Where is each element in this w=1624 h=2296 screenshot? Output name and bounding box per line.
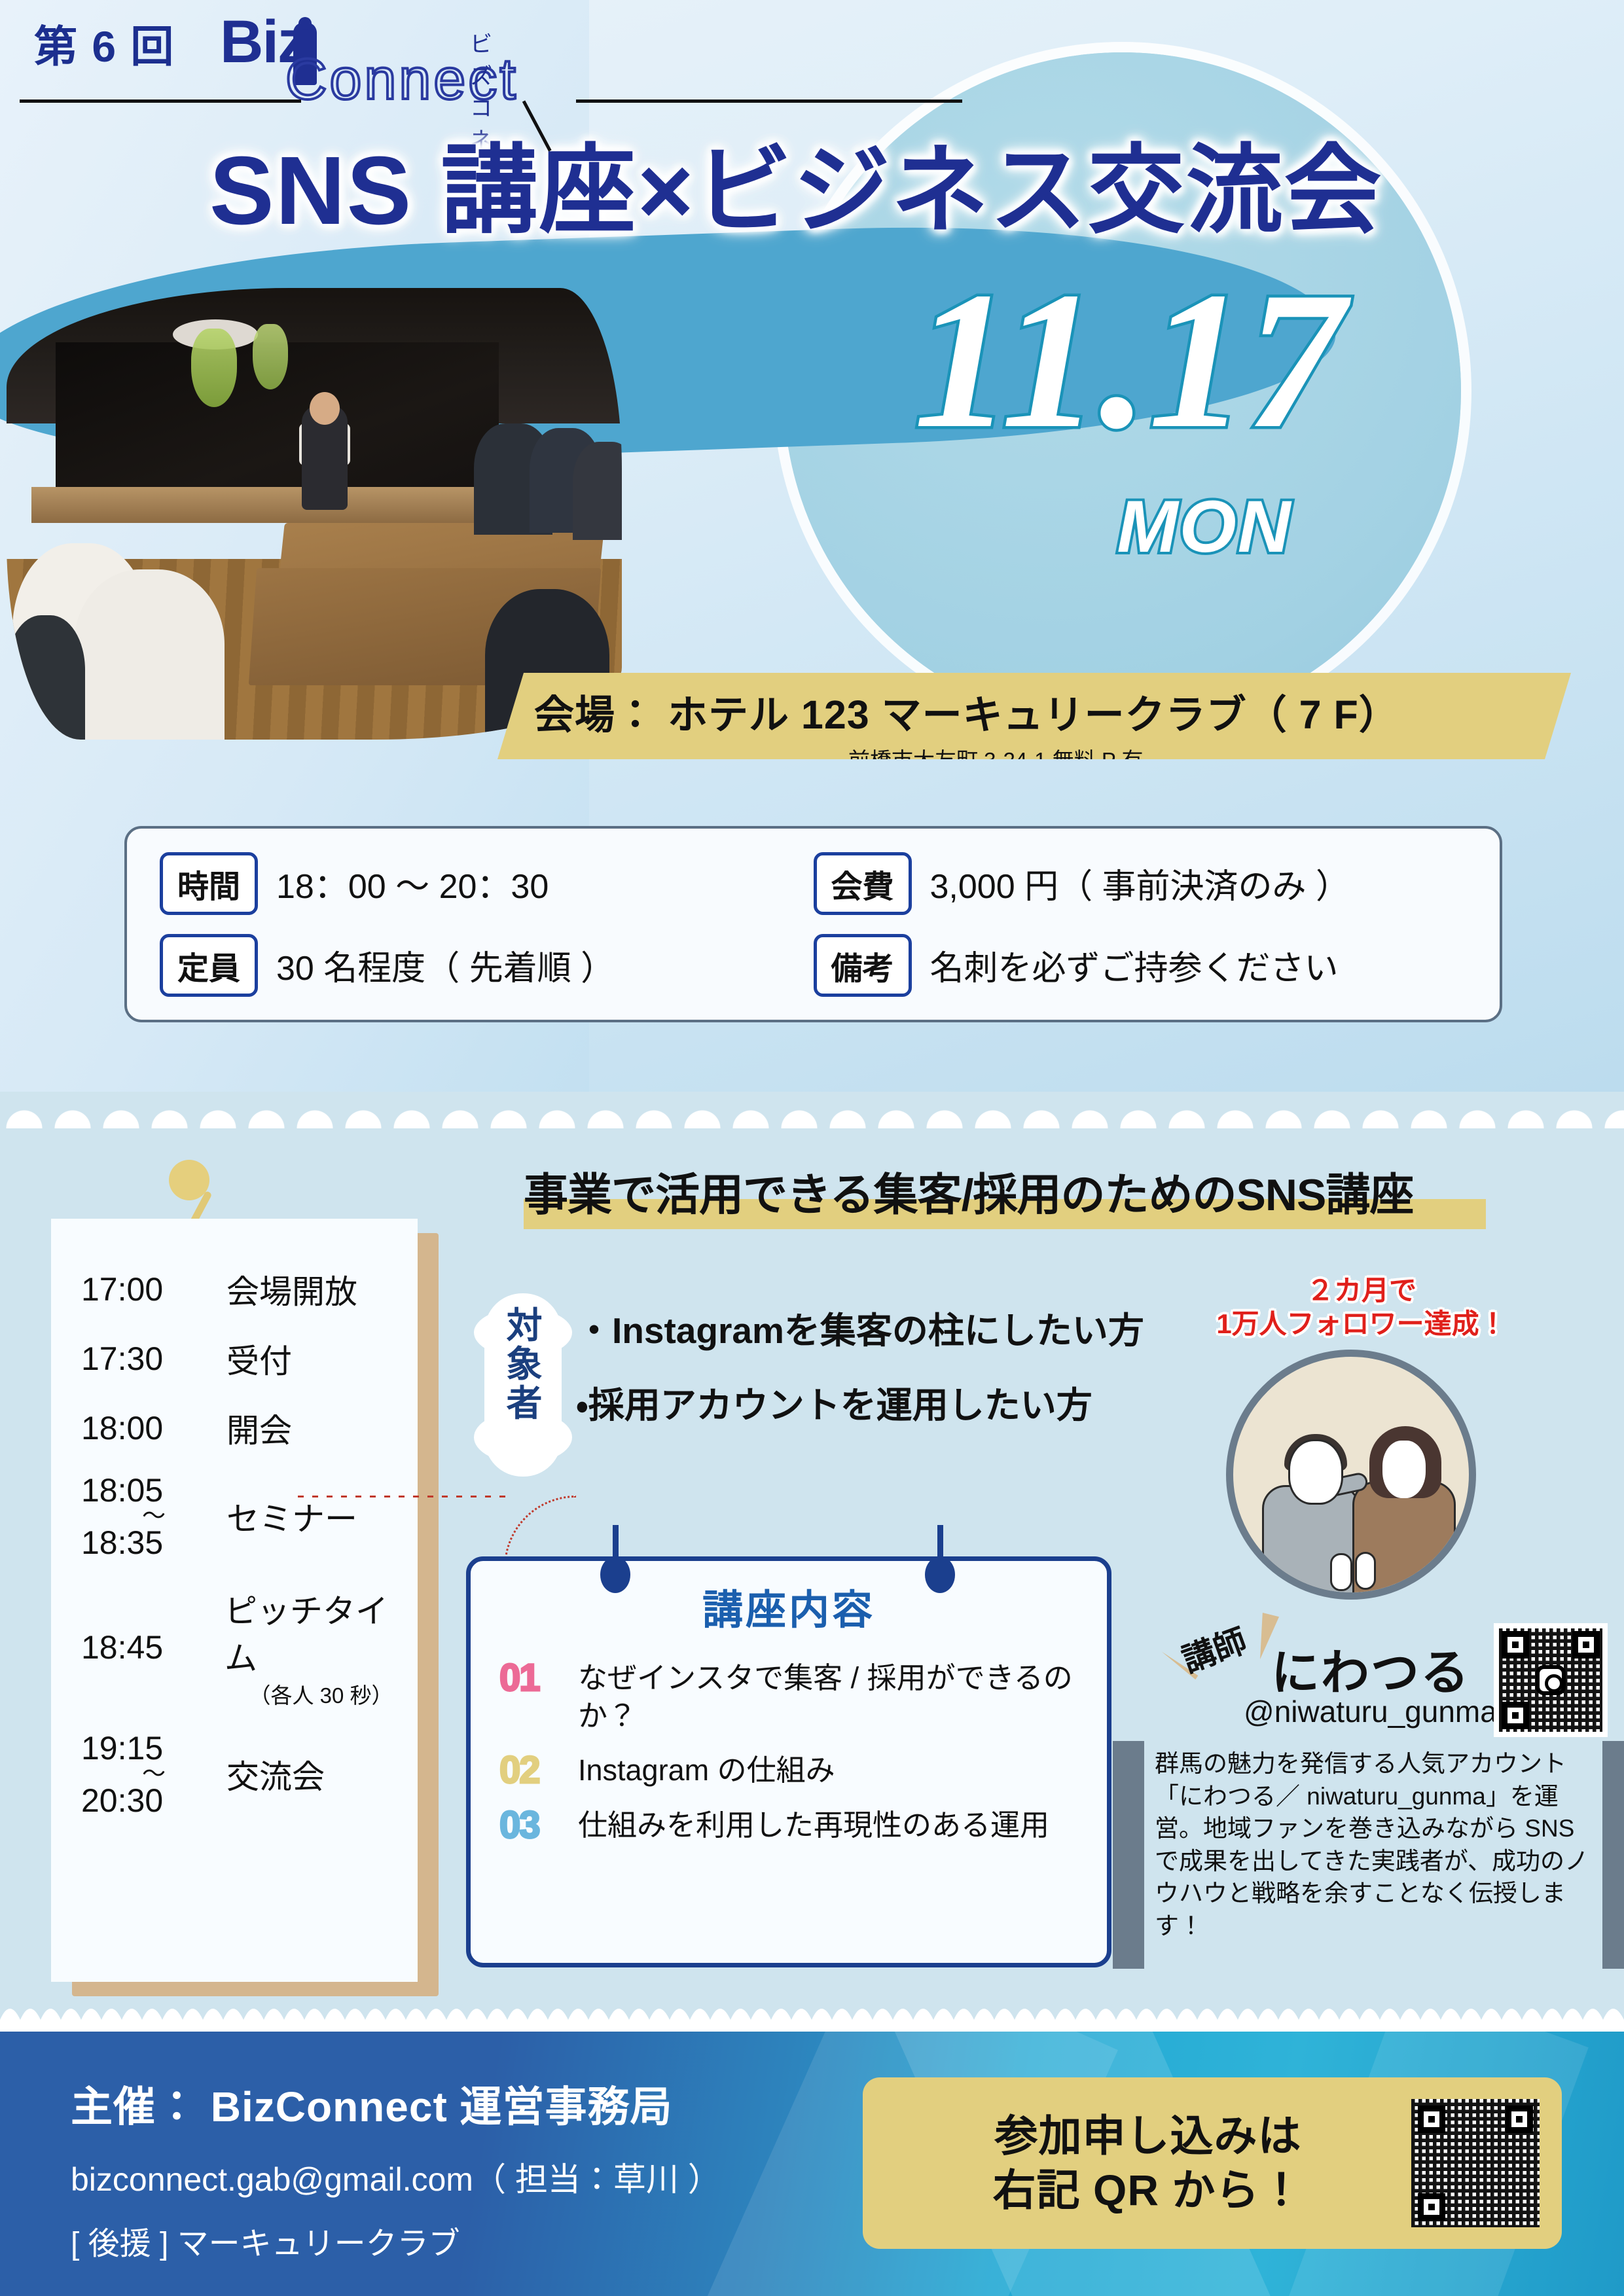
- badge-line-1: ２カ月で: [1165, 1274, 1558, 1307]
- event-photo: [7, 288, 622, 740]
- schedule-row: 18:45 ピッチタイム （各人 30 秒）: [81, 1585, 418, 1710]
- apply-line-1: 参加申し込みは: [885, 2109, 1411, 2163]
- instructor-illustration: [1226, 1350, 1476, 1600]
- schedule-label: 開会: [226, 1405, 292, 1452]
- bizconnect-logo: Biz Connect ビズコネクト: [220, 12, 306, 72]
- info-item-capacity: 定員 30 名程度（ 先着順 ）: [160, 924, 814, 1006]
- schedule-time: 18:45: [81, 1628, 225, 1666]
- schedule-row: 17:00 会場開放: [81, 1266, 418, 1313]
- instructor-handle: @niwaturu_gunma: [1244, 1694, 1497, 1729]
- apply-line-2: 右記 QR から！: [885, 2163, 1411, 2217]
- course-knob-right: [925, 1556, 955, 1593]
- schedule-time-range: 18:05 〜 18:35: [81, 1474, 226, 1559]
- schedule-time: 17:30: [81, 1340, 226, 1378]
- course-item-text: Instagram の仕組み: [578, 1751, 835, 1789]
- qr-finder-tr: [1506, 2106, 1533, 2133]
- schedule-label: 会場開放: [226, 1266, 357, 1313]
- course-item-text: なぜインスタで集客 / 採用ができるのか？: [578, 1659, 1095, 1734]
- qr-finder-tl: [1418, 2106, 1445, 2133]
- info-tag-label: 定員: [160, 934, 258, 997]
- schedule-label-text: ピッチタイム: [225, 1593, 388, 1677]
- course-item: 01 なぜインスタで集客 / 採用ができるのか？: [499, 1659, 1095, 1734]
- course-item-list: 01 なぜインスタで集客 / 採用ができるのか？ 02 Instagram の仕…: [499, 1659, 1095, 1861]
- course-item-number: 03: [499, 1806, 578, 1844]
- badge-line-2: 1万人フォロワー達成！: [1165, 1307, 1558, 1340]
- event-info-box: 時間 18：00 〜 20：30 会費 3,000 円（ 事前決済のみ ） 定員…: [124, 826, 1502, 1022]
- target-item: ・Instagramを集客の柱にしたい方: [576, 1301, 1144, 1354]
- event-date: 11.17: [851, 262, 1407, 458]
- info-tag-label: 会費: [814, 852, 912, 915]
- schedule-row: 19:15 〜 20:30 交流会: [81, 1732, 418, 1817]
- course-item-number: 02: [499, 1751, 578, 1789]
- venue-banner: 会場： ホテル 123 マーキュリークラブ（ 7 F） 前橋市大友町 3-24-…: [497, 673, 1571, 759]
- hero-section: 第 6 回 Biz Connect ビズコネクト SNS 講座×ビジネス交流会 …: [0, 0, 1624, 1092]
- schedule-label: ピッチタイム （各人 30 秒）: [225, 1585, 418, 1710]
- course-item-text: 仕組みを利用した再現性のある運用: [578, 1806, 1049, 1844]
- schedule-label: 交流会: [226, 1751, 325, 1798]
- application-qr-code[interactable]: [1411, 2099, 1540, 2227]
- person-right-head: [1382, 1441, 1426, 1498]
- course-item-number: 01: [499, 1659, 578, 1697]
- schedule-time-range: 19:15 〜 20:30: [81, 1732, 226, 1817]
- edition-label: 第 6 回: [34, 12, 175, 75]
- info-item-fee: 会費 3,000 円（ 事前決済のみ ）: [814, 842, 1468, 924]
- schedule-time: 17:00: [81, 1270, 226, 1308]
- businessman-head-icon: [298, 17, 312, 30]
- qr-finder-bl: [1502, 1702, 1529, 1729]
- heading-rule-left: [20, 99, 301, 103]
- qr-finder-tl: [1502, 1631, 1529, 1659]
- target-audience-label: 対象者: [499, 1306, 550, 1423]
- course-content-title: 講座内容: [471, 1577, 1107, 1636]
- footer-zigzag-divider: [0, 2001, 1624, 2032]
- schedule-card: 17:00 会場開放 17:30 受付 18:00 開会 18:05 〜 18:…: [51, 1219, 418, 1982]
- target-audience-list: ・Instagramを集客の柱にしたい方 ・採用アカウントを運用したい方: [576, 1301, 1144, 1450]
- footer-organizer: 主催： BizConnect 運営事務局: [71, 2073, 721, 2134]
- info-tag-label: 時間: [160, 852, 258, 915]
- qr-finder-tr: [1572, 1631, 1600, 1659]
- schedule-time: 18:00: [81, 1409, 226, 1447]
- course-item: 03 仕組みを利用した再現性のある運用: [499, 1806, 1095, 1844]
- footer-contact-block: 主催： BizConnect 運営事務局 bizconnect.gab@gmai…: [71, 2073, 721, 2263]
- heading-rule-right: [576, 99, 962, 103]
- info-value: 名刺を必ずご持参ください: [930, 941, 1339, 990]
- course-knob-left: [600, 1556, 630, 1593]
- info-item-time: 時間 18：00 〜 20：30: [160, 842, 814, 924]
- schedule-time-end: 20:30: [81, 1782, 163, 1819]
- instagram-icon: [1536, 1665, 1566, 1695]
- seminar-heading-block: 事業で活用できる集客/採用のためのSNS講座: [524, 1158, 1545, 1223]
- person-left-hand: [1330, 1553, 1352, 1591]
- pushpin-icon: [169, 1160, 209, 1200]
- course-item: 02 Instagram の仕組み: [499, 1751, 1095, 1789]
- info-value: 3,000 円（ 事前決済のみ ）: [930, 859, 1350, 908]
- venue-address: 前橋市大友町 3-24-1 無料 P 有: [848, 743, 1571, 774]
- schedule-row: 17:30 受付: [81, 1335, 418, 1382]
- schedule-label: 受付: [226, 1335, 292, 1382]
- info-value: 18：00 〜 20：30: [276, 859, 549, 908]
- info-tag-label: 備考: [814, 934, 912, 997]
- schedule-row: 18:05 〜 18:35 セミナー: [81, 1474, 418, 1559]
- event-day-of-week: MON: [1021, 484, 1388, 569]
- footer-email[interactable]: bizconnect.gab@gmail.com（ 担当：草川 ）: [71, 2153, 721, 2200]
- seminar-heading: 事業で活用できる集客/採用のためのSNS講座: [524, 1158, 1545, 1223]
- instructor-name: にわつる: [1271, 1634, 1470, 1704]
- course-content-box: 講座内容 01 なぜインスタで集客 / 採用ができるのか？ 02 Instagr…: [466, 1556, 1111, 1967]
- schedule-label-sub: （各人 30 秒）: [225, 1678, 418, 1710]
- person-right-hand: [1355, 1552, 1376, 1590]
- instructor-bio: 群馬の魅力を発信する人気アカウント「にわつる／ niwaturu_gunma」を…: [1144, 1741, 1602, 1969]
- qr-finder-bl: [1418, 2193, 1445, 2221]
- footer-support: [ 後援 ] マーキュリークラブ: [71, 2217, 721, 2263]
- target-item: ・採用アカウントを運用したい方: [576, 1376, 1144, 1428]
- apply-cta-text: 参加申し込みは 右記 QR から！: [885, 2109, 1411, 2217]
- venue-name: 会場： ホテル 123 マーキュリークラブ（ 7 F）: [534, 682, 1571, 740]
- info-item-notes: 備考 名刺を必ずご持参ください: [814, 924, 1468, 1006]
- follower-achievement-badge: ２カ月で 1万人フォロワー達成！: [1165, 1274, 1558, 1340]
- wave-divider: [0, 1092, 1624, 1128]
- schedule-time-end: 18:35: [81, 1524, 163, 1561]
- person-left-head: [1288, 1439, 1343, 1505]
- schedule-row: 18:00 開会: [81, 1405, 418, 1452]
- connector-dotted-line: [298, 1496, 514, 1498]
- instructor-bio-text: 群馬の魅力を発信する人気アカウント「にわつる／ niwaturu_gunma」を…: [1155, 1748, 1592, 1942]
- info-value: 30 名程度（ 先着順 ）: [276, 941, 615, 990]
- schedule-label: セミナー: [226, 1493, 357, 1540]
- page-title: SNS 講座×ビジネス交流会: [209, 111, 1453, 252]
- apply-cta-box[interactable]: 参加申し込みは 右記 QR から！: [863, 2077, 1562, 2249]
